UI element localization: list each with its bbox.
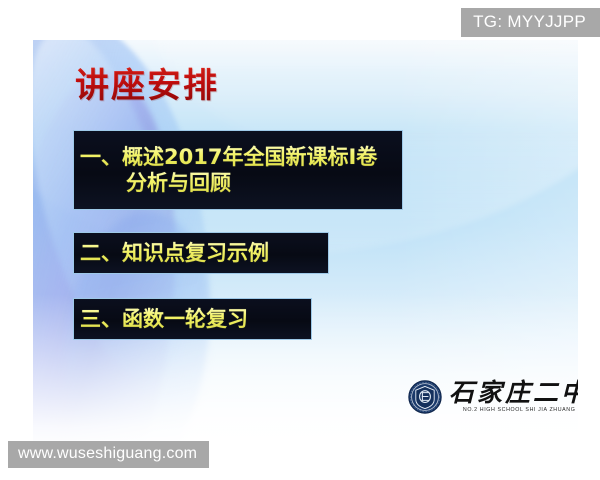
agenda-item-1-line-2: 分析与回顾 — [80, 170, 394, 196]
school-name-romanized: NO.2 HIGH SCHOOL SHI JIA ZHUANG — [463, 408, 576, 413]
page-canvas: 讲座安排 一、概述2017年全国新课标Ⅰ卷 分析与回顾 二、知识点复习示例 三、… — [0, 0, 600, 480]
school-crest-icon — [408, 380, 442, 414]
presentation-slide: 讲座安排 一、概述2017年全国新课标Ⅰ卷 分析与回顾 二、知识点复习示例 三、… — [33, 40, 578, 450]
agenda-item-3: 三、函数一轮复习 — [73, 298, 312, 340]
telegram-watermark: TG: MYYJJPP — [461, 8, 600, 37]
agenda-item-1: 一、概述2017年全国新课标Ⅰ卷 分析与回顾 — [73, 130, 403, 210]
school-logo: 石家庄二中 NO.2 HIGH SCHOOL SHI JIA ZHUANG — [408, 380, 578, 414]
slide-title: 讲座安排 — [75, 58, 219, 107]
school-name: 石家庄二中 — [449, 380, 578, 405]
agenda-item-1-line-1: 一、概述2017年全国新课标Ⅰ卷 — [80, 144, 394, 170]
site-watermark: www.wuseshiguang.com — [8, 441, 209, 468]
agenda-item-2: 二、知识点复习示例 — [73, 232, 329, 274]
agenda-item-3-line-1: 三、函数一轮复习 — [80, 306, 303, 332]
agenda-item-2-line-1: 二、知识点复习示例 — [80, 240, 320, 266]
school-logo-text: 石家庄二中 NO.2 HIGH SCHOOL SHI JIA ZHUANG — [449, 380, 578, 413]
